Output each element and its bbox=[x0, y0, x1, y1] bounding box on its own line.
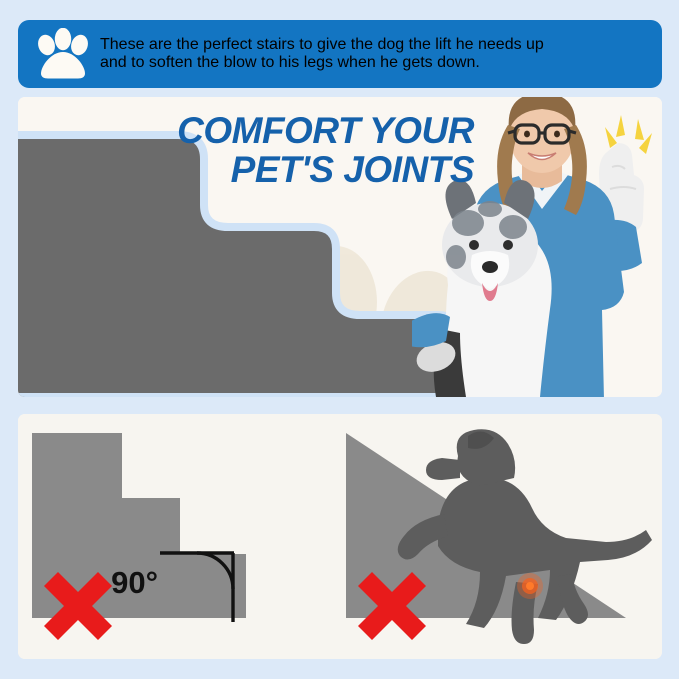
product-infographic: These are the perfect stairs to give the… bbox=[0, 0, 679, 679]
hero-panel: COMFORT YOUR PET'S JOINTS bbox=[18, 97, 662, 397]
comparison-panel: 90° bbox=[18, 414, 662, 659]
page-title-line2: PET'S JOINTS bbox=[114, 150, 474, 189]
banner-text-line2: and to soften the blow to his legs when … bbox=[100, 54, 544, 72]
page-title-line1: COMFORT YOUR bbox=[114, 111, 474, 150]
steep-stairs-illustration: 90° bbox=[18, 414, 340, 659]
angle-label: 90° bbox=[111, 565, 158, 600]
steep-ramp-illustration bbox=[340, 414, 662, 659]
page-title: COMFORT YOUR PET'S JOINTS bbox=[114, 111, 474, 189]
banner-text: These are the perfect stairs to give the… bbox=[100, 36, 544, 72]
paw-print-icon bbox=[34, 28, 92, 80]
headline-banner: These are the perfect stairs to give the… bbox=[18, 20, 662, 88]
border-collie-dog bbox=[412, 180, 551, 397]
joint-pain-marker bbox=[517, 573, 543, 599]
banner-text-line1: These are the perfect stairs to give the… bbox=[100, 36, 544, 54]
